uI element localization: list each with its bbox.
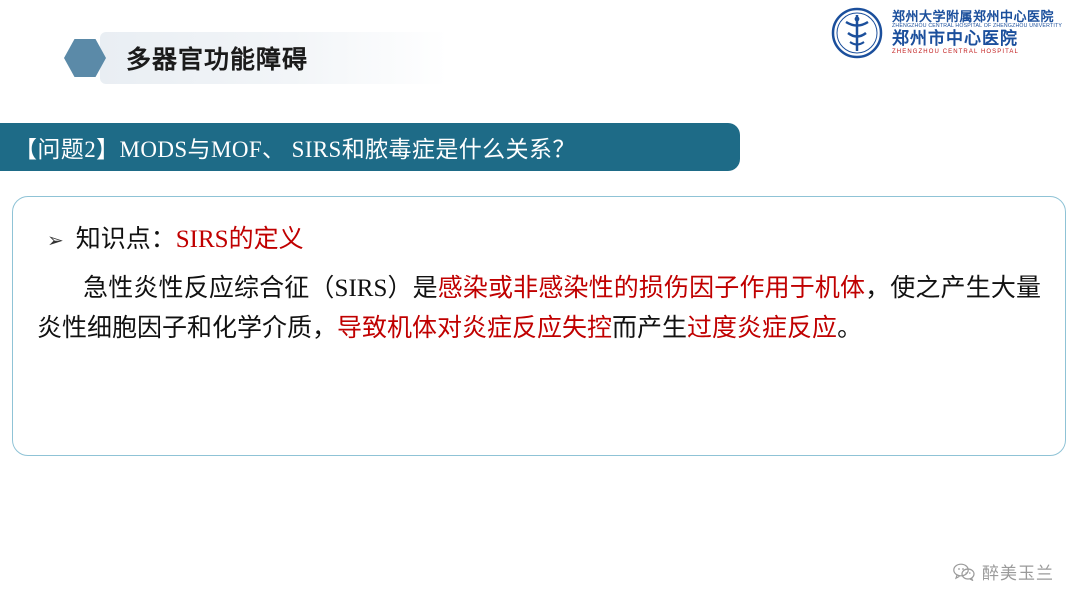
content-card: ➢ 知识点： SIRS的定义 急性炎性反应综合征（SIRS）是感染或非感染性的损… (12, 196, 1066, 456)
logo-en-line2: ZHENGZHOU CENTRAL HOSPITAL (892, 49, 1062, 55)
question-banner: 【问题2】MODS与MOF、 SIRS和脓毒症是什么关系？ (0, 123, 740, 171)
definition-paragraph: 急性炎性反应综合征（SIRS）是感染或非感染性的损伤因子作用于机体，使之产生大量… (37, 269, 1041, 349)
logo-en-line1: ZHENGZHOU CENTRAL HOSPITAL OF ZHENGZHOU … (892, 24, 1062, 30)
hospital-logo-text: 郑州大学附属郑州中心医院 ZHENGZHOU CENTRAL HOSPITAL … (892, 10, 1062, 55)
wechat-icon (953, 563, 975, 581)
hospital-logo-mark (830, 6, 884, 60)
question-text: 【问题2】MODS与MOF、 SIRS和脓毒症是什么关系？ (14, 130, 576, 164)
section-title-row: 多器官功能障碍 (64, 32, 308, 84)
paragraph-segment-1: 急性炎性反应综合征（SIRS）是 (83, 275, 438, 302)
paragraph-segment-6-highlight: 过度炎症反应 (687, 315, 837, 342)
hospital-logo: 郑州大学附属郑州中心医院 ZHENGZHOU CENTRAL HOSPITAL … (830, 6, 1062, 60)
paragraph-segment-7: 。 (837, 315, 862, 342)
logo-cn-line2: 郑州市中心医院 (892, 30, 1062, 48)
watermark-text: 醉美玉兰 (982, 559, 1054, 584)
paragraph-segment-2-highlight: 感染或非感染性的损伤因子作用于机体 (438, 275, 865, 302)
knowledge-point-label: 知识点： (76, 219, 176, 255)
knowledge-point-line: ➢ 知识点： SIRS的定义 (47, 219, 1041, 255)
paragraph-segment-5: 而产生 (612, 315, 687, 342)
knowledge-point-value: SIRS的定义 (176, 219, 304, 255)
arrow-bullet-icon: ➢ (47, 228, 64, 253)
page-title: 多器官功能障碍 (126, 40, 308, 76)
watermark: 醉美玉兰 (953, 559, 1054, 584)
paragraph-segment-4-highlight: 导致机体对炎症反应失控 (337, 315, 612, 342)
